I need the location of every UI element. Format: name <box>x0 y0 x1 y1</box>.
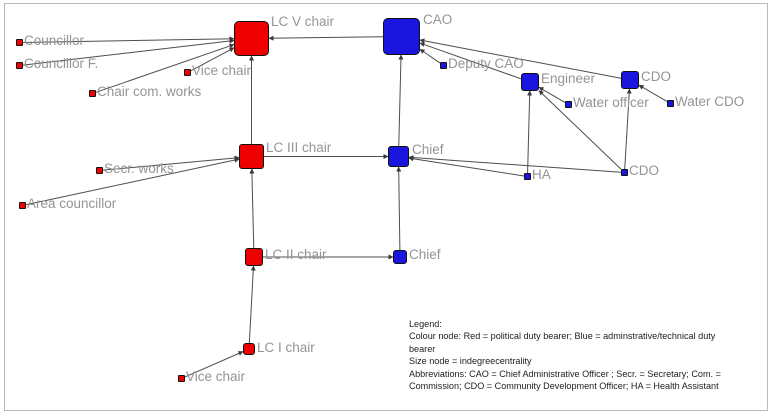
node-chief-ii[interactable] <box>393 250 407 264</box>
node-label-vice-chair-v: Vice chair <box>192 64 251 78</box>
node-label-cao: CAO <box>423 13 452 27</box>
node-label-lc-v-chair: LC V chair <box>271 15 334 29</box>
node-label-cdo-top: CDO <box>641 70 671 84</box>
node-vice-chair-v[interactable] <box>184 69 191 76</box>
node-label-chief-iii: Chief <box>412 143 444 157</box>
node-lc-ii-chair[interactable] <box>245 248 263 266</box>
node-area-councillor[interactable] <box>19 202 26 209</box>
legend-colour-line: Colour node: Red = political duty bearer… <box>409 330 739 355</box>
node-cdo-bottom[interactable] <box>621 169 628 176</box>
node-engineer[interactable] <box>521 73 539 91</box>
legend-title: Legend: <box>409 318 739 330</box>
node-cao[interactable] <box>383 18 420 55</box>
node-label-deputy-cao: Deputy CAO <box>448 57 524 71</box>
node-chief-iii[interactable] <box>388 146 409 167</box>
node-deputy-cao[interactable] <box>440 62 447 69</box>
node-councillor[interactable] <box>16 39 23 46</box>
node-label-chief-ii: Chief <box>409 248 441 262</box>
node-label-lc-ii-chair: LC II chair <box>265 248 327 262</box>
node-label-secr-works: Secr. works <box>104 162 174 176</box>
node-label-water-cdo: Water CDO <box>675 95 744 109</box>
legend-size-line: Size node = indegreecentrality <box>409 355 739 367</box>
node-label-councillor: Councillor <box>24 34 84 48</box>
node-label-ha: HA <box>532 168 551 182</box>
node-lc-i-chair[interactable] <box>243 343 255 355</box>
node-label-engineer: Engineer <box>541 72 595 86</box>
node-ha[interactable] <box>524 173 531 180</box>
node-lc-iii-chair[interactable] <box>239 144 264 169</box>
node-label-area-councillor: Area councillor <box>27 197 116 211</box>
node-cdo-top[interactable] <box>621 71 639 89</box>
node-water-officer[interactable] <box>565 101 572 108</box>
node-label-lc-iii-chair: LC III chair <box>266 141 331 155</box>
legend: Legend: Colour node: Red = political dut… <box>409 318 739 392</box>
node-label-chair-com-works: Chair com. works <box>97 85 201 99</box>
node-label-water-officer: Water officer <box>573 96 649 110</box>
diagram-canvas: CouncillorCouncillor F.Chair com. worksV… <box>0 0 775 418</box>
node-councillor-f[interactable] <box>16 62 23 69</box>
node-label-lc-i-chair: LC I chair <box>257 341 315 355</box>
node-chair-com-works[interactable] <box>89 90 96 97</box>
node-label-councillor-f: Councillor F. <box>24 57 98 71</box>
node-secr-works[interactable] <box>96 167 103 174</box>
node-lc-v-chair[interactable] <box>234 21 269 56</box>
legend-abbrev-line: Abbreviations: CAO = Chief Administrativ… <box>409 368 739 393</box>
node-water-cdo[interactable] <box>667 100 674 107</box>
node-vice-chair-i[interactable] <box>178 375 185 382</box>
node-label-cdo-bottom: CDO <box>629 164 659 178</box>
node-label-vice-chair-i: Vice chair <box>186 370 245 384</box>
